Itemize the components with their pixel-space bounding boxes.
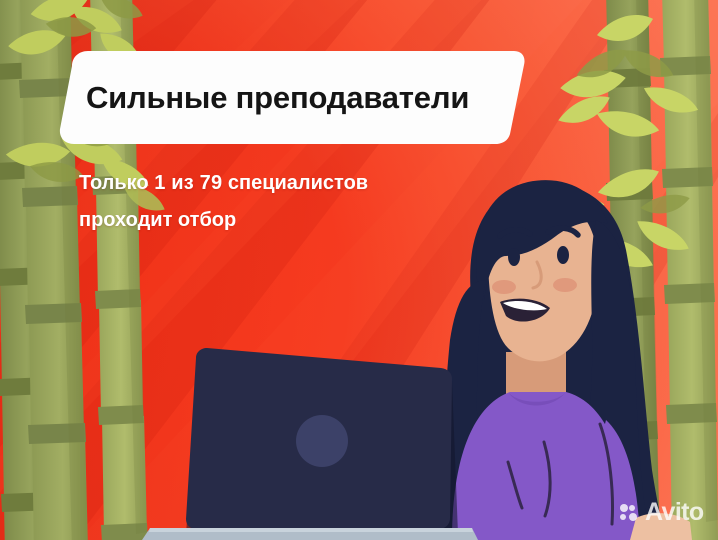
promo-image: Сильные преподаватели Только 1 из 79 спе…	[0, 0, 718, 540]
avito-brand-label: Avito	[645, 500, 704, 525]
title-banner: Сильные преподаватели	[58, 50, 526, 145]
laptop-illustration	[142, 348, 478, 540]
subtitle-line-2: проходит отбор	[79, 202, 499, 239]
avito-dots-icon	[620, 504, 640, 522]
subtitle-block: Только 1 из 79 специалистов проходит отб…	[79, 165, 499, 239]
avito-watermark: Avito	[620, 500, 704, 525]
page-title: Сильные преподаватели	[86, 50, 469, 145]
subtitle-line-1: Только 1 из 79 специалистов	[79, 165, 499, 202]
subtitle-prefix: Только	[79, 172, 154, 194]
subtitle-suffix: специалистов	[222, 172, 368, 194]
subtitle-highlight: 1 из 79	[154, 172, 222, 194]
